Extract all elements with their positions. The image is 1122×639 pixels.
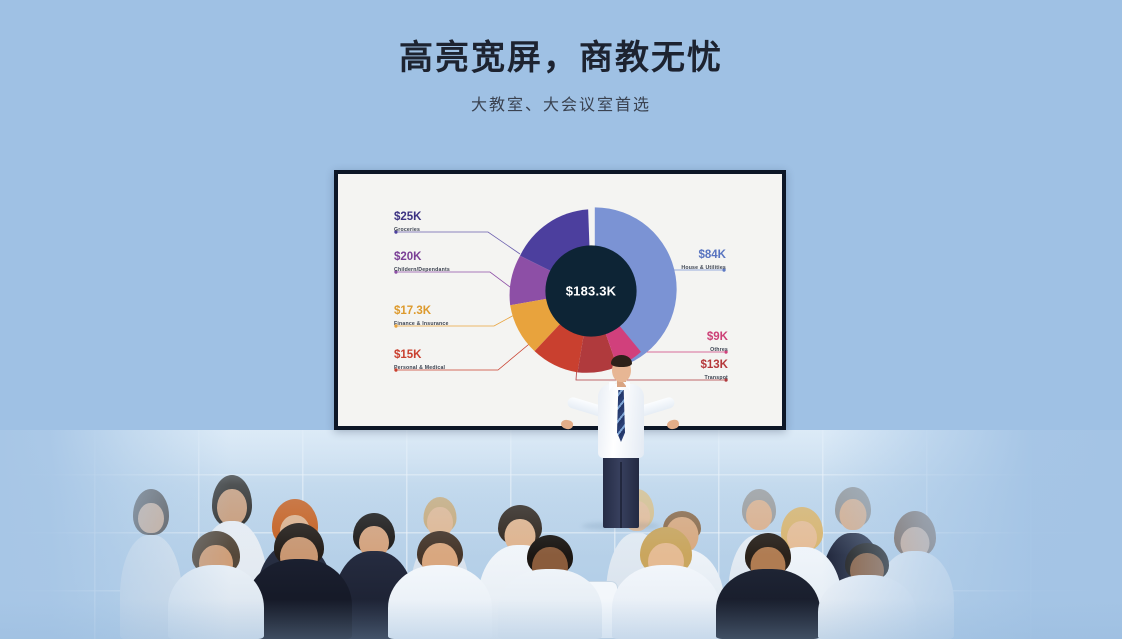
headline-block: 高亮宽屏，商教无忧 大教室、大会议室首选 [0, 38, 1122, 115]
presenter [562, 338, 680, 528]
presenter-collar-left [609, 382, 616, 391]
slide-stage: 高亮宽屏，商教无忧 大教室、大会议室首选 [0, 0, 1122, 639]
page-subtitle: 大教室、大会议室首选 [0, 91, 1122, 115]
presenter-collar-right [623, 382, 630, 391]
callout-house-utilities: $84K House & Utilities [681, 250, 726, 271]
crowd-fade-bottom [0, 599, 1122, 639]
donut-hub [545, 245, 636, 336]
callout-others: $9K Othres [707, 332, 728, 353]
slide: $183.3K $25K Groceries $20K Childern/Dep… [338, 174, 782, 426]
page-title: 高亮宽屏，商教无忧 [0, 38, 1122, 79]
callout-children-dependants: $20K Childern/Dependants [394, 252, 450, 273]
callout-groceries: $25K Groceries [394, 212, 422, 233]
conference-room [0, 430, 1122, 639]
callout-transport: $13K Transpot [701, 360, 729, 381]
presenter-leg-split [620, 462, 622, 528]
callout-personal-medical: $15K Personal & Medical [394, 350, 445, 371]
display-panel: $183.3K $25K Groceries $20K Childern/Dep… [334, 170, 786, 430]
callout-finance-insurance: $17.3K Finance & Insurance [394, 306, 449, 327]
display-screen: $183.3K $25K Groceries $20K Childern/Dep… [338, 174, 782, 426]
presenter-hair [611, 355, 632, 367]
presenter-tie [617, 390, 625, 442]
presenter-hand-left [560, 419, 574, 430]
presenter-hand-right [666, 419, 680, 430]
